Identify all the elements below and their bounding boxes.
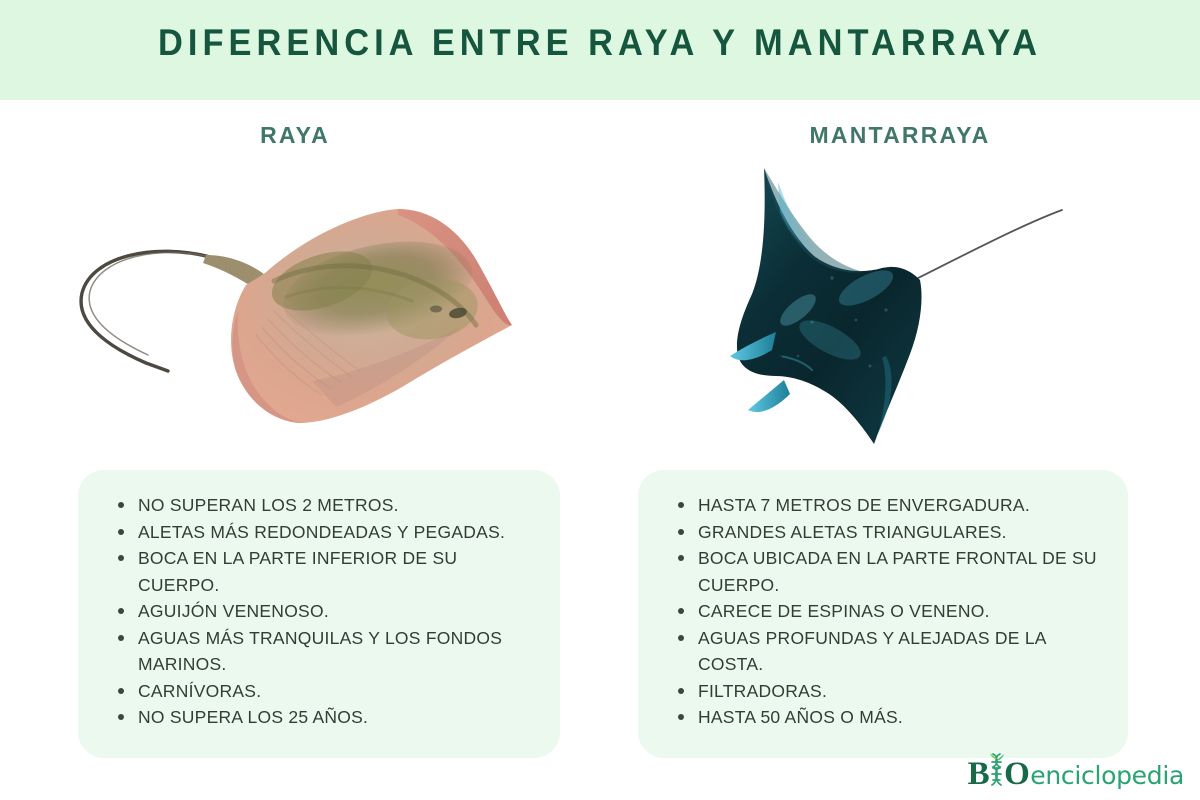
column-heading-raya: RAYA xyxy=(135,122,455,149)
list-item: CARNÍVORAS. xyxy=(114,678,542,705)
logo-bio-text: B O xyxy=(968,750,1030,793)
column-heading-mantarraya: MANTARRAYA xyxy=(740,122,1060,149)
list-item: HASTA 7 METROS DE ENVERGADURA. xyxy=(674,492,1110,519)
list-item: GRANDES ALETAS TRIANGULARES. xyxy=(674,519,1110,546)
list-item: AGUAS MÁS TRANQUILAS Y LOS FONDOS MARINO… xyxy=(114,625,542,678)
list-item: AGUAS PROFUNDAS Y ALEJADAS DE LA COSTA. xyxy=(674,625,1110,678)
list-item: BOCA EN LA PARTE INFERIOR DE SU CUERPO. xyxy=(114,545,542,598)
list-item: CARECE DE ESPINAS O VENENO. xyxy=(674,598,1110,625)
manta-ray-photo xyxy=(680,160,1120,460)
page-title: DIFERENCIA ENTRE RAYA Y MANTARRAYA xyxy=(42,22,1158,64)
list-item: HASTA 50 AÑOS O MÁS. xyxy=(674,704,1110,731)
logo-letter-o: O xyxy=(1004,756,1029,793)
logo-word: enciclopedia xyxy=(1030,761,1184,790)
list-item: NO SUPERA LOS 25 AÑOS. xyxy=(114,704,542,731)
stingray-photo xyxy=(60,185,560,435)
bullet-panel-mantarraya: HASTA 7 METROS DE ENVERGADURA. GRANDES A… xyxy=(638,470,1128,758)
list-item: BOCA UBICADA EN LA PARTE FRONTAL DE SU C… xyxy=(674,545,1110,598)
list-item: FILTRADORAS. xyxy=(674,678,1110,705)
list-item: ALETAS MÁS REDONDEADAS Y PEGADAS. xyxy=(114,519,542,546)
dna-helix-icon xyxy=(988,753,1005,787)
list-item: NO SUPERAN LOS 2 METROS. xyxy=(114,492,542,519)
bullet-panel-raya: NO SUPERAN LOS 2 METROS. ALETAS MÁS REDO… xyxy=(78,470,560,758)
brand-logo[interactable]: B O enciclopedia xyxy=(968,750,1184,790)
logo-letter-b: B xyxy=(968,756,990,793)
bullet-list-mantarraya: HASTA 7 METROS DE ENVERGADURA. GRANDES A… xyxy=(638,470,1128,731)
list-item: AGUIJÓN VENENOSO. xyxy=(114,598,542,625)
bullet-list-raya: NO SUPERAN LOS 2 METROS. ALETAS MÁS REDO… xyxy=(78,470,560,731)
